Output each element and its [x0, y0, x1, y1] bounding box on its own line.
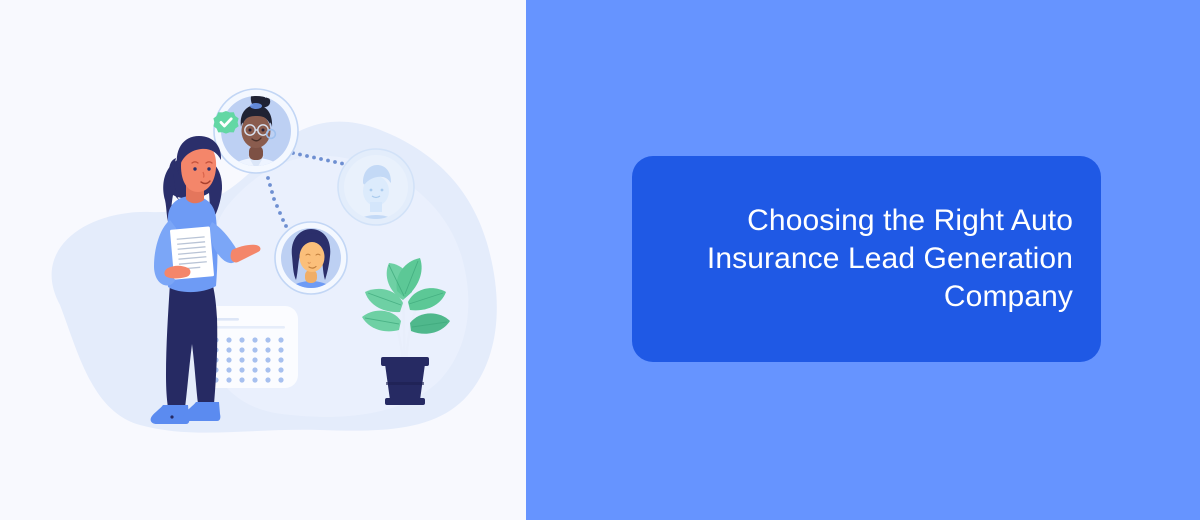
hero-illustration: [0, 0, 526, 520]
title-card: Choosing the Right Auto Insurance Lead G…: [632, 156, 1101, 362]
illustration-panel: [0, 0, 526, 520]
headline-panel: Choosing the Right Auto Insurance Lead G…: [526, 0, 1200, 520]
page-title: Choosing the Right Auto Insurance Lead G…: [632, 202, 1101, 316]
page-root: Choosing the Right Auto Insurance Lead G…: [0, 0, 1200, 520]
